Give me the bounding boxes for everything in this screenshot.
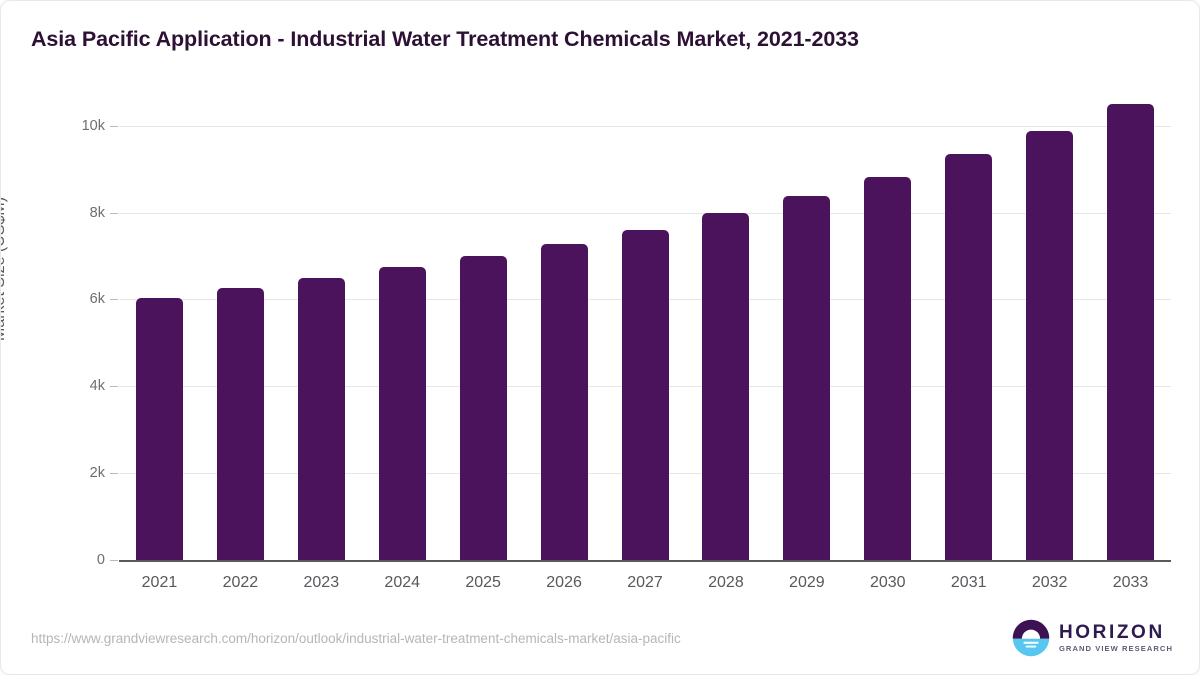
y-tick-label: 4k (35, 378, 105, 394)
gridline (119, 126, 1171, 127)
y-tick-label: 2k (35, 465, 105, 481)
x-axis-line (119, 560, 1171, 562)
logo-subtitle: GRAND VIEW RESEARCH (1059, 645, 1173, 653)
bar-2031[interactable] (945, 154, 992, 560)
y-tick-label: 8k (35, 205, 105, 221)
y-axis-title: Market Size (US$M) (0, 41, 9, 341)
y-tick-mark (110, 386, 118, 387)
bar-2024[interactable] (379, 267, 426, 560)
x-tick-label: 2023 (304, 574, 340, 592)
bar-2033[interactable] (1107, 104, 1154, 560)
x-tick-label: 2026 (546, 574, 582, 592)
chart-card: Asia Pacific Application - Industrial Wa… (0, 0, 1200, 675)
page-title: Asia Pacific Application - Industrial Wa… (31, 27, 859, 52)
x-tick-label: 2022 (223, 574, 259, 592)
y-tick-mark (110, 126, 118, 127)
horizon-logo[interactable]: HORIZON GRAND VIEW RESEARCH (1012, 619, 1173, 657)
x-tick-label: 2028 (708, 574, 744, 592)
x-tick-label: 2032 (1032, 574, 1068, 592)
y-tick-mark (110, 473, 118, 474)
x-tick-label: 2033 (1113, 574, 1149, 592)
y-tick-label: 6k (35, 291, 105, 307)
x-tick-label: 2021 (142, 574, 178, 592)
gridline (119, 213, 1171, 214)
bar-2021[interactable] (136, 298, 183, 560)
logo-text-block: HORIZON GRAND VIEW RESEARCH (1059, 623, 1173, 653)
x-tick-label: 2029 (789, 574, 825, 592)
x-tick-label: 2025 (465, 574, 501, 592)
bar-2032[interactable] (1026, 131, 1073, 560)
x-tick-label: 2030 (870, 574, 906, 592)
bar-2029[interactable] (783, 196, 830, 560)
plot-area (119, 91, 1171, 560)
y-tick-label: 10k (35, 118, 105, 134)
logo-wordmark: HORIZON (1059, 623, 1173, 642)
y-tick-label: 0 (35, 552, 105, 568)
x-tick-label: 2031 (951, 574, 987, 592)
bar-2026[interactable] (541, 244, 588, 560)
y-tick-mark (110, 213, 118, 214)
bar-2025[interactable] (460, 256, 507, 560)
y-tick-mark (110, 560, 118, 561)
x-tick-label: 2027 (627, 574, 663, 592)
bar-2022[interactable] (217, 288, 264, 560)
x-tick-label: 2024 (384, 574, 420, 592)
bar-2028[interactable] (702, 213, 749, 560)
source-url[interactable]: https://www.grandviewresearch.com/horizo… (31, 631, 681, 646)
bar-2027[interactable] (622, 230, 669, 560)
bar-2023[interactable] (298, 278, 345, 560)
horizon-sun-circle-icon (1012, 619, 1050, 657)
bar-2030[interactable] (864, 177, 911, 560)
y-tick-mark (110, 299, 118, 300)
